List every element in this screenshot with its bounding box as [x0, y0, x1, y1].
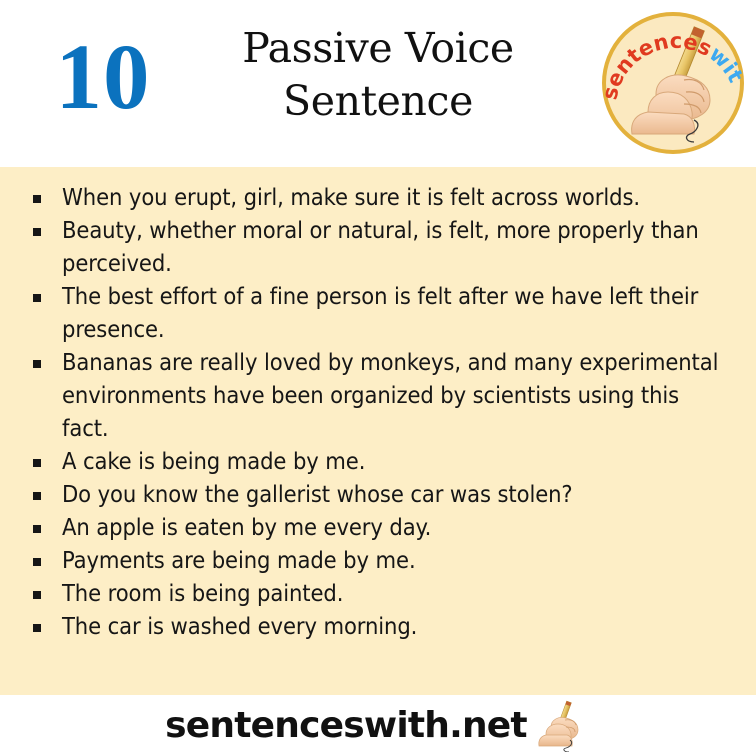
list-item-text: Payments are being made by me.: [62, 546, 416, 574]
square-bullet-icon: [33, 195, 41, 203]
footer: sentenceswith.net: [0, 695, 756, 756]
list-item: Bananas are really loved by monkeys, and…: [0, 346, 722, 445]
item-count-badge: 10: [28, 28, 178, 128]
list-item: A cake is being made by me.: [0, 445, 722, 478]
list-item: The room is being painted.: [0, 577, 722, 610]
logo-word-net: .net: [598, 8, 605, 13]
list-item-text: A cake is being made by me.: [62, 447, 365, 475]
footer-wordmark: sentenceswith.net: [165, 706, 527, 746]
list-item-text: The room is being painted.: [62, 579, 343, 607]
list-item-text: The car is washed every morning.: [62, 612, 417, 640]
square-bullet-icon: [33, 294, 41, 302]
hand-writing-pencil-icon: [537, 700, 591, 752]
list-item: Do you know the gallerist whose car was …: [0, 478, 722, 511]
square-bullet-icon: [33, 492, 41, 500]
header: 10 Passive Voice Sentence: [0, 0, 756, 167]
square-bullet-icon: [33, 558, 41, 566]
page-title-line-1: Passive Voice: [178, 22, 578, 75]
list-item-text: Do you know the gallerist whose car was …: [62, 480, 573, 508]
list-item-text: An apple is eaten by me every day.: [62, 513, 431, 541]
list-item: Beauty, whether moral or natural, is fel…: [0, 214, 722, 280]
list-item-text: Bananas are really loved by monkeys, and…: [62, 348, 718, 442]
content-panel: When you erupt, girl, make sure it is fe…: [0, 167, 756, 695]
square-bullet-icon: [33, 624, 41, 632]
list-item-text: Beauty, whether moral or natural, is fel…: [62, 216, 699, 277]
footer-brand[interactable]: sentenceswith.net: [0, 695, 756, 756]
page-title-line-2: Sentence: [178, 75, 578, 128]
list-item: The car is washed every morning.: [0, 610, 722, 643]
list-item: The best effort of a fine person is felt…: [0, 280, 722, 346]
site-logo-badge[interactable]: sentenceswith.net: [598, 8, 748, 158]
list-item: Payments are being made by me.: [0, 544, 722, 577]
square-bullet-icon: [33, 360, 41, 368]
square-bullet-icon: [33, 228, 41, 236]
square-bullet-icon: [33, 591, 41, 599]
sentence-list: When you erupt, girl, make sure it is fe…: [0, 181, 756, 643]
square-bullet-icon: [33, 525, 41, 533]
list-item: When you erupt, girl, make sure it is fe…: [0, 181, 722, 214]
list-item-text: The best effort of a fine person is felt…: [62, 282, 698, 343]
list-item-text: When you erupt, girl, make sure it is fe…: [62, 183, 640, 211]
list-item: An apple is eaten by me every day.: [0, 511, 722, 544]
page-title: Passive Voice Sentence: [178, 22, 578, 128]
infographic-page: 10 Passive Voice Sentence: [0, 0, 756, 756]
square-bullet-icon: [33, 459, 41, 467]
